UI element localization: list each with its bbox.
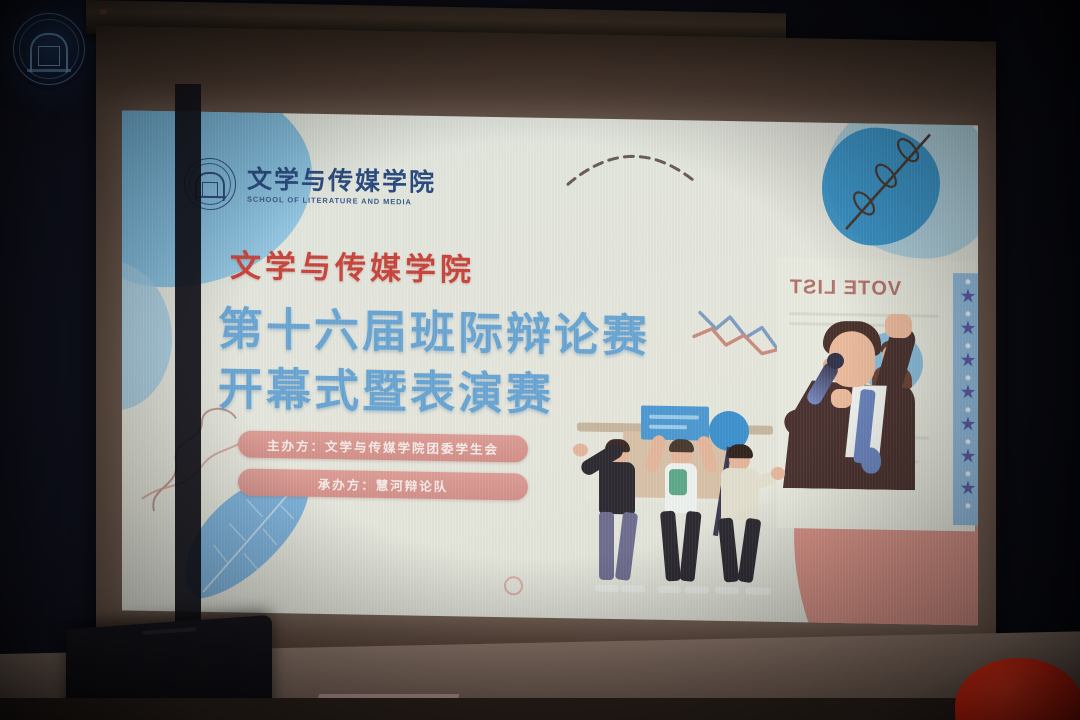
- presentation-slide: 文学与传媒学院 SCHOOL OF LITERATURE AND MEDIA 文…: [122, 110, 978, 625]
- dashed-arc-icon: [562, 130, 702, 192]
- wall-right-panel: [988, 0, 1080, 720]
- university-emblem-icon: [8, 8, 90, 90]
- vote-list-title: VOTE LIST: [785, 276, 905, 301]
- slide-illustration: VOTE LIST ★: [577, 254, 977, 607]
- logo-school-name-en: SCHOOL OF LITERATURE AND MEDIA: [247, 195, 436, 206]
- host-pill-label: 承办方：慧河辩论队: [318, 474, 449, 495]
- slide-title-red: 文学与传媒学院: [230, 240, 475, 289]
- crowd-figures: [577, 386, 807, 595]
- crowd-figure: [709, 444, 785, 595]
- star-rating-strip: ★ ★ ★ ★ ★ ★ ★: [953, 273, 978, 526]
- organizer-pill-label: 主办方：文学与传媒学院团委学生会: [267, 435, 499, 458]
- protest-sign-icon: [641, 406, 709, 441]
- organizer-pill: 主办方：文学与传媒学院团委学生会: [238, 430, 528, 462]
- projection-screen: 文学与传媒学院 SCHOOL OF LITERATURE AND MEDIA 文…: [96, 26, 996, 692]
- twig-icon: [812, 124, 942, 246]
- slide-logo-lockup: 文学与传媒学院 SCHOOL OF LITERATURE AND MEDIA: [184, 158, 436, 214]
- raised-fist-icon: [885, 314, 912, 338]
- photo-scene: 文学与传媒学院 SCHOOL OF LITERATURE AND MEDIA 文…: [0, 0, 1080, 720]
- desk-front-edge: [0, 698, 1080, 720]
- dark-vertical-post: [175, 84, 201, 644]
- host-pill: 承办方：慧河辩论队: [238, 468, 528, 500]
- slide-title-blue-line2: 开幕式暨表演赛: [218, 352, 554, 423]
- pink-circle-outline-icon: [504, 576, 523, 595]
- logo-school-name-cn: 文学与传媒学院: [247, 166, 436, 194]
